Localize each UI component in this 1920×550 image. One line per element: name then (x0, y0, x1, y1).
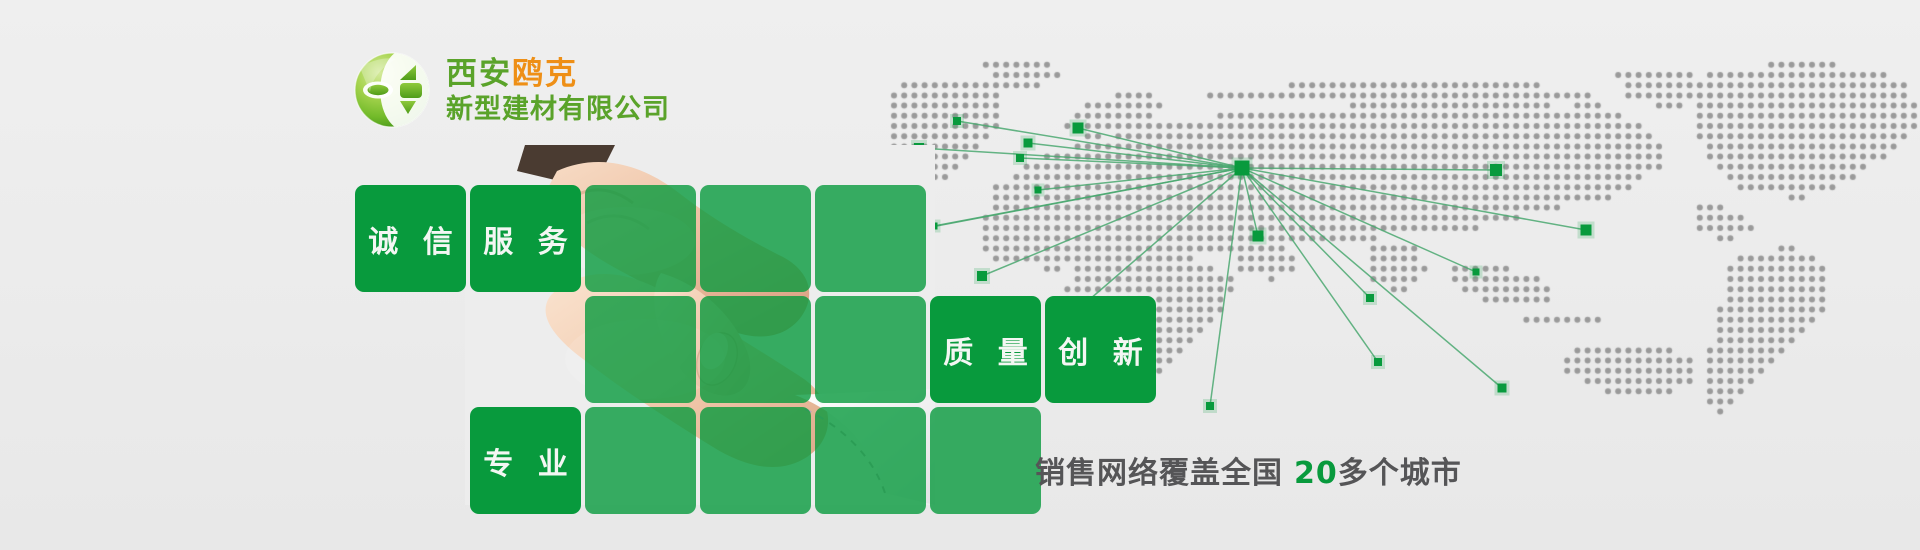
value-tile-blank-r1c3 (585, 185, 696, 292)
network-city-node (1035, 187, 1042, 194)
value-tile-blank-r3c6 (930, 407, 1041, 514)
logo-primary-line: 西安鸥克 (446, 56, 670, 93)
network-city-node (1498, 384, 1507, 393)
value-tile-innovation: 创 新 (1045, 296, 1156, 403)
network-link (982, 168, 1242, 276)
value-tile-blank-r2c5 (815, 296, 926, 403)
value-tile-professional: 专 业 (470, 407, 581, 514)
value-tile-blank-r1c4 (700, 185, 811, 292)
network-link (1242, 168, 1476, 272)
value-tile-blank-r3c5 (815, 407, 926, 514)
value-tile-blank-r1c5 (815, 185, 926, 292)
globe-leaf-icon (352, 50, 432, 130)
company-logo[interactable]: 西安鸥克 新型建材有限公司 (352, 50, 670, 130)
network-city-node (1024, 139, 1033, 148)
network-city-node (1366, 294, 1374, 302)
company-hero-banner: 西安鸥克 新型建材有限公司 (0, 0, 1920, 550)
network-link (1028, 143, 1242, 168)
value-tile-quality: 质 量 (930, 296, 1041, 403)
tile-label: 创 新 (1045, 296, 1156, 403)
sales-network-tagline: 销售网络覆盖全国20多个城市 (1035, 448, 1462, 492)
network-city-node (1016, 154, 1024, 162)
network-city-node (1253, 231, 1264, 242)
network-city-node (1206, 402, 1214, 410)
value-tile-service: 服 务 (470, 185, 581, 292)
network-city-node (1473, 269, 1480, 276)
network-link (1242, 168, 1496, 170)
logo-city: 西安 (446, 56, 512, 92)
network-city-node (1490, 164, 1502, 176)
network-hub-node (1235, 161, 1250, 176)
network-city-node (1073, 123, 1084, 134)
values-tile-collage: 诚 信服 务质 量创 新专 业 (355, 185, 1015, 480)
tagline-prefix: 销售网络覆盖全国 (1035, 456, 1283, 491)
tile-label: 诚 信 (355, 185, 466, 292)
value-tile-blank-r3c3 (585, 407, 696, 514)
network-link (919, 148, 1242, 168)
value-tile-integrity: 诚 信 (355, 185, 466, 292)
tile-label: 质 量 (930, 296, 1041, 403)
value-tile-blank-r2c4 (700, 296, 811, 403)
tile-label: 专 业 (470, 407, 581, 514)
logo-secondary-line: 新型建材有限公司 (446, 94, 670, 126)
logo-brand: 鸥克 (512, 56, 578, 92)
tagline-city-count: 20 (1294, 456, 1338, 491)
network-city-node (953, 117, 961, 125)
tagline-suffix: 多个城市 (1338, 456, 1462, 491)
network-city-node (1581, 225, 1592, 236)
value-tile-blank-r3c4 (700, 407, 811, 514)
value-tile-blank-r2c3 (585, 296, 696, 403)
network-link (1210, 168, 1242, 406)
network-city-node (1374, 358, 1382, 366)
tile-label: 服 务 (470, 185, 581, 292)
logo-wordmark: 西安鸥克 新型建材有限公司 (446, 54, 670, 126)
